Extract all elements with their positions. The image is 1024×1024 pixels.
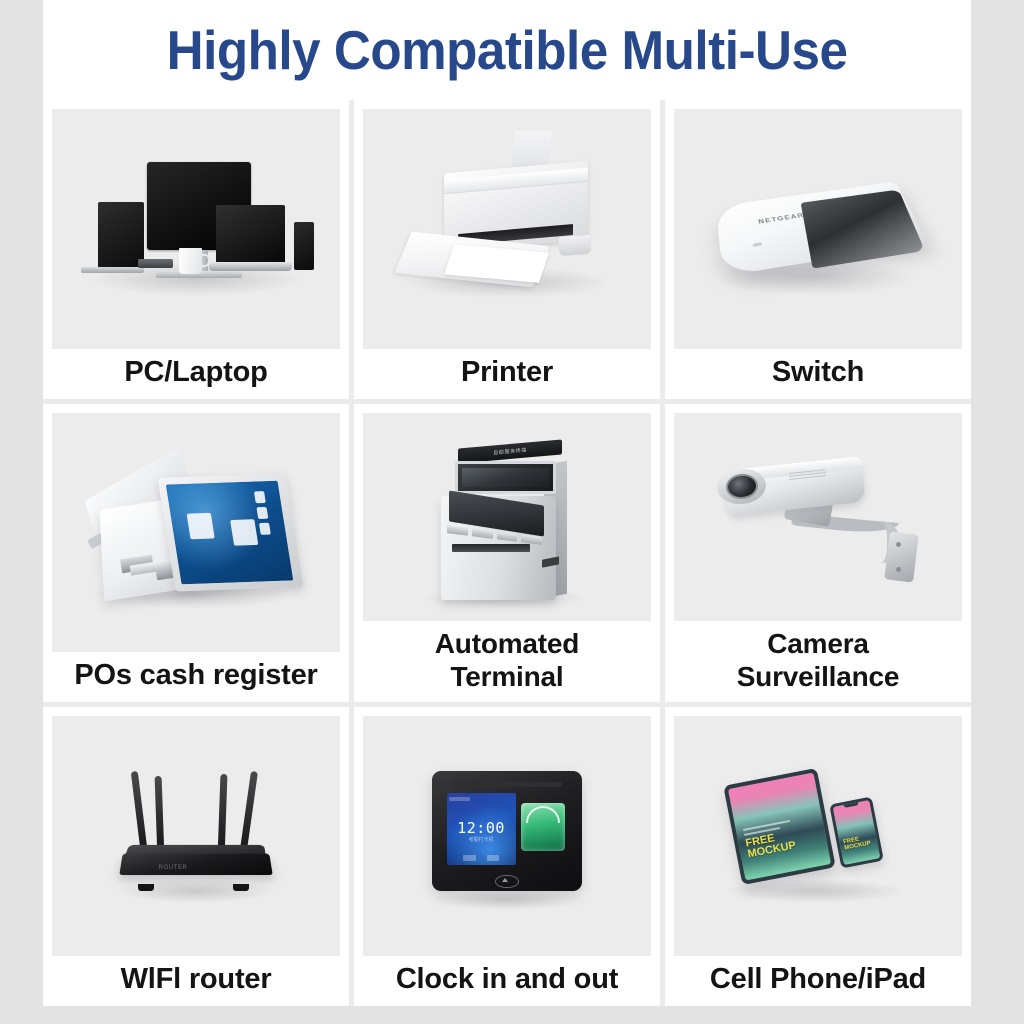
clock-screen-subtitle: 考勤打卡机 <box>447 836 516 843</box>
tile-atm-terminal[interactable]: 自助服务终端 Automated Terminal <box>354 404 660 703</box>
tile-cell-phone-ipad[interactable]: FREEMOCKUP FREEMOCKUP Cell Phone/iPad <box>665 707 971 1006</box>
pc-laptop-icon <box>52 109 340 349</box>
network-switch-icon: NETGEAR <box>674 109 962 349</box>
wifi-router-icon: ROUTER <box>52 716 340 956</box>
product-feature-page: Highly Compatible Multi-Use <box>43 0 971 1006</box>
phone-tablet-icon: FREEMOCKUP FREEMOCKUP <box>674 716 962 956</box>
tile-label-switch: Switch <box>674 349 962 399</box>
tile-pc-laptop[interactable]: PC/Laptop <box>43 100 349 399</box>
phone-mockup-text: FREEMOCKUP <box>843 835 872 852</box>
tile-pos-register[interactable]: POs cash register <box>43 404 349 703</box>
cctv-camera-icon <box>674 413 962 621</box>
tile-clock-in-out[interactable]: 12:00 考勤打卡机 Clock in and out <box>354 707 660 1006</box>
tile-label-cell-phone-ipad: Cell Phone/iPad <box>674 956 962 1006</box>
clock-screen-time: 12:00 <box>447 819 516 837</box>
tile-label-clock-in-out: Clock in and out <box>363 956 651 1006</box>
tile-label-printer: Printer <box>363 349 651 399</box>
tile-label-pc-laptop: PC/Laptop <box>52 349 340 399</box>
pos-terminal-icon <box>52 413 340 653</box>
router-brand-logo: ROUTER <box>159 865 188 871</box>
tile-wifi-router[interactable]: ROUTER WlFl router <box>43 707 349 1006</box>
printer-icon <box>363 109 651 349</box>
page-title: Highly Compatible Multi-Use <box>167 23 848 78</box>
atm-kiosk-icon: 自助服务终端 <box>363 413 651 621</box>
fingerprint-clock-icon: 12:00 考勤打卡机 <box>363 716 651 956</box>
compatibility-grid: PC/Laptop Printer <box>43 100 971 1006</box>
tile-printer[interactable]: Printer <box>354 100 660 399</box>
tile-camera-surveillance[interactable]: Camera Surveillance <box>665 404 971 703</box>
tile-switch[interactable]: NETGEAR Switch <box>665 100 971 399</box>
tile-label-atm-terminal: Automated Terminal <box>363 621 651 703</box>
tile-label-camera-surveillance: Camera Surveillance <box>674 621 962 703</box>
heading-bar: Highly Compatible Multi-Use <box>43 0 971 100</box>
tile-label-wifi-router: WlFl router <box>52 956 340 1006</box>
tile-label-pos-register: POs cash register <box>52 652 340 702</box>
